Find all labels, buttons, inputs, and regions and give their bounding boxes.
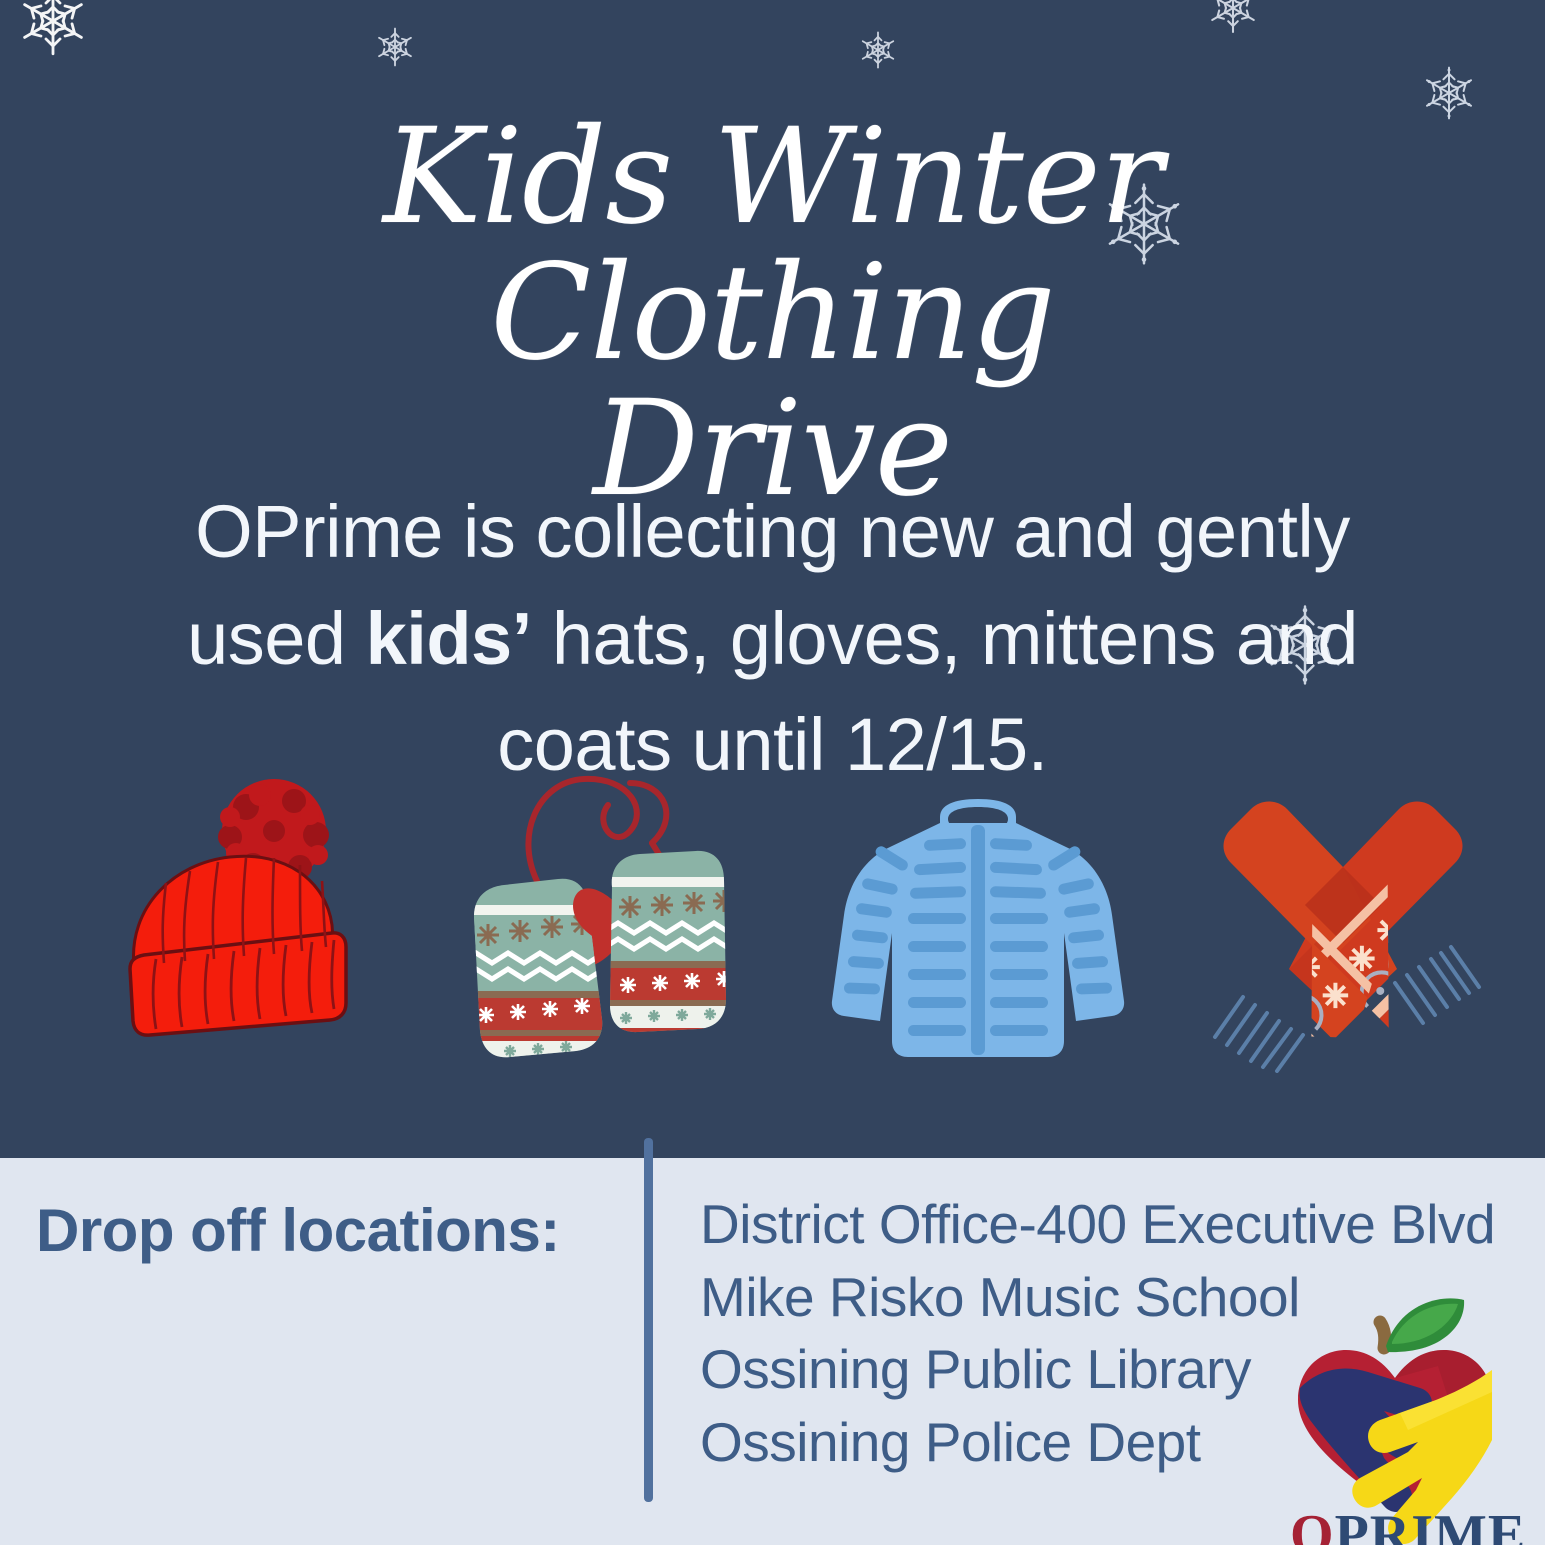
poster-canvas: Kids Winter Clothing Drive OPrime is col…: [0, 0, 1545, 1545]
oprime-wordmark: OPRIME: [1290, 1503, 1526, 1545]
list-item: District Office-400 Executive Blvd: [700, 1188, 1495, 1261]
dropoff-heading: Drop off locations:: [36, 1196, 560, 1265]
clothing-illustration-row: [0, 745, 1545, 1085]
puffer-jacket-icon: [828, 793, 1128, 1065]
wordmark-rest: PRIME: [1335, 1504, 1527, 1545]
wordmark-initial: O: [1290, 1504, 1335, 1545]
description-emphasis: kids’: [366, 597, 532, 680]
panel-divider: [644, 1138, 653, 1502]
snowflake-icon: [372, 24, 418, 70]
knit-beanie-hat-icon: [78, 757, 378, 1057]
snowflake-icon: [1203, 0, 1263, 38]
patterned-mittens-icon: [452, 757, 752, 1067]
winter-scarf-icon: [1193, 783, 1493, 1073]
snowflake-icon: [856, 28, 900, 72]
page-title: Kids Winter Clothing Drive: [0, 110, 1545, 518]
snowflake-icon: [14, 0, 92, 60]
title-line-1: Kids Winter Clothing: [90, 110, 1455, 382]
